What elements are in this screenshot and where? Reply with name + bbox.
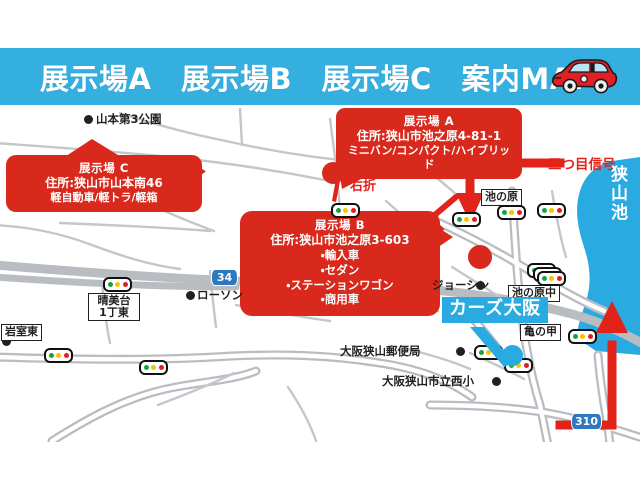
bottom-margin bbox=[0, 442, 640, 480]
route-shield-34: 34 bbox=[211, 269, 238, 286]
label-nishi-elementary: 大阪狭山市立西小 bbox=[382, 375, 474, 387]
junction-box-ikenohara: 池の原 bbox=[481, 189, 522, 206]
header-banner: 展示場A 展示場B 展示場C 案内MAP bbox=[0, 48, 640, 105]
page-title: 展示場A 展示場B 展示場C 案内MAP bbox=[40, 56, 594, 98]
label-sayama-pond: 狭山池 bbox=[608, 165, 625, 222]
traffic-signal-harumidai bbox=[103, 277, 132, 292]
callout-b-item-3: ・商用車 bbox=[250, 292, 430, 307]
traffic-signal-joshin bbox=[537, 271, 566, 286]
label-joshin: ジョーシン bbox=[432, 279, 489, 291]
callout-c-address: 住所:狭山市山本南46 bbox=[16, 176, 192, 191]
shop-name-badge[interactable]: カーズ大阪 bbox=[442, 297, 548, 323]
traffic-signal-kamenoko bbox=[568, 329, 597, 344]
label-post-office: 大阪狭山郵便局 bbox=[340, 345, 421, 357]
poi-dot-post-office bbox=[456, 347, 465, 356]
callout-b-item-0: ・輸入車 bbox=[250, 248, 430, 263]
callout-b-item-1: ・セダン bbox=[250, 263, 430, 278]
poi-dot-lawson bbox=[186, 291, 195, 300]
annotation-third-signal: 三つ目信号 bbox=[548, 153, 616, 173]
junction-box-iwamuro-higashi: 岩室東 bbox=[1, 324, 42, 341]
annotation-turn-right: 右折 bbox=[350, 175, 376, 194]
map-canvas: 展示場 A 住所:狭山市池之原4-81-1 ミニバン/コンパクト/ハイブリッド … bbox=[0, 105, 640, 442]
callout-c-tail bbox=[58, 139, 128, 161]
callout-b-item-2: ・ステーションワゴン bbox=[250, 278, 430, 293]
top-margin bbox=[0, 0, 640, 48]
red-minivan-icon bbox=[548, 53, 620, 101]
callout-c-name: 展示場 C bbox=[16, 161, 192, 176]
route-shield-310: 310 bbox=[571, 413, 602, 430]
traffic-signal-west-2 bbox=[139, 360, 168, 375]
traffic-signal-ikenohara bbox=[497, 205, 526, 220]
callout-showroom-c[interactable]: 展示場 C 住所:狭山市山本南46 軽自動車/軽トラ/軽箱 bbox=[6, 155, 202, 212]
junction-iwamuro-label: 岩室東 bbox=[5, 326, 38, 338]
traffic-signal-sanbanme bbox=[537, 203, 566, 218]
map-flyer: 展示場A 展示場B 展示場C 案内MAP bbox=[0, 0, 640, 480]
label-lawson: ローソン bbox=[197, 289, 243, 301]
poi-dot-nishi-elementary bbox=[492, 377, 501, 386]
junction-box-harumidai: 晴美台 1丁東 bbox=[88, 293, 140, 321]
poi-dot-yamamoto-park bbox=[84, 115, 93, 124]
label-yamamoto-park: 山本第3公園 bbox=[96, 113, 162, 125]
traffic-signal-ikenohara-west bbox=[452, 212, 481, 227]
shop-location-dot bbox=[502, 345, 523, 366]
callout-b-address: 住所:狭山市池之原3-603 bbox=[250, 233, 430, 248]
callout-showroom-b[interactable]: 展示場 B 住所:狭山市池之原3-603 ・輸入車 ・セダン ・ステーションワゴ… bbox=[240, 211, 440, 316]
junction-harumidai-line1: 晴美台 bbox=[92, 295, 136, 307]
traffic-signal-iwamuro bbox=[44, 348, 73, 363]
callout-b-name: 展示場 B bbox=[250, 218, 430, 233]
traffic-signal-turn-right bbox=[331, 203, 360, 218]
callout-b-tail bbox=[434, 223, 454, 253]
callout-a-address: 住所:狭山市池之原4-81-1 bbox=[346, 129, 512, 144]
callout-c-vehicles: 軽自動車/軽トラ/軽箱 bbox=[16, 191, 192, 205]
callout-a-name: 展示場 A bbox=[346, 114, 512, 129]
lot-marker-b bbox=[468, 245, 492, 269]
junction-harumidai-line2: 1丁東 bbox=[92, 307, 136, 319]
junction-ikenohara-label: 池の原 bbox=[485, 191, 518, 203]
